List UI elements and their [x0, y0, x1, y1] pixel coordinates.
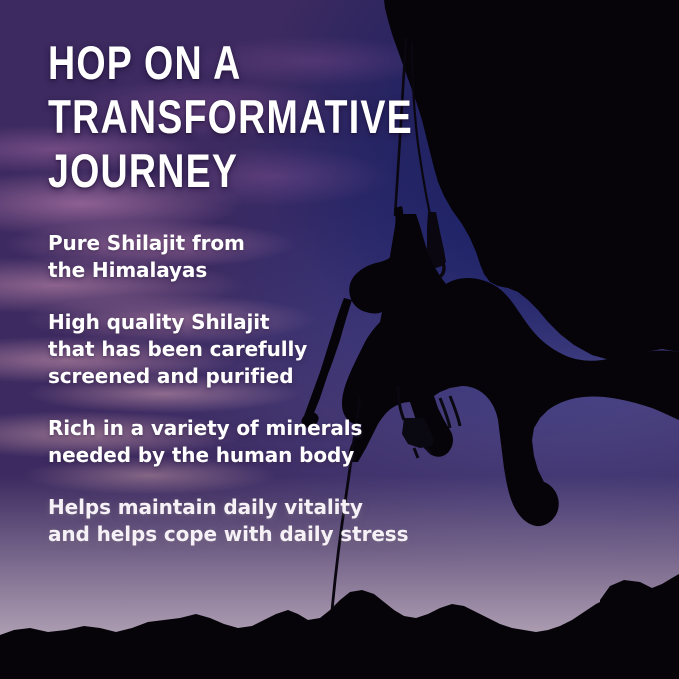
- banner-text-content: HOP ON A TRANSFORMATIVE JOURNEY Pure Shi…: [0, 0, 679, 679]
- benefit-item-4: Helps maintain daily vitality and helps …: [48, 494, 478, 548]
- benefit-item-1: Pure Shilajit from the Himalayas: [48, 230, 478, 284]
- benefit-list: Pure Shilajit from the Himalayas High qu…: [48, 230, 478, 548]
- benefit-item-2: High quality Shilajit that has been care…: [48, 309, 478, 390]
- benefit-item-3: Rich in a variety of minerals needed by …: [48, 415, 478, 469]
- page-title: HOP ON A TRANSFORMATIVE JOURNEY: [48, 36, 520, 198]
- promo-banner: HOP ON A TRANSFORMATIVE JOURNEY Pure Shi…: [0, 0, 679, 679]
